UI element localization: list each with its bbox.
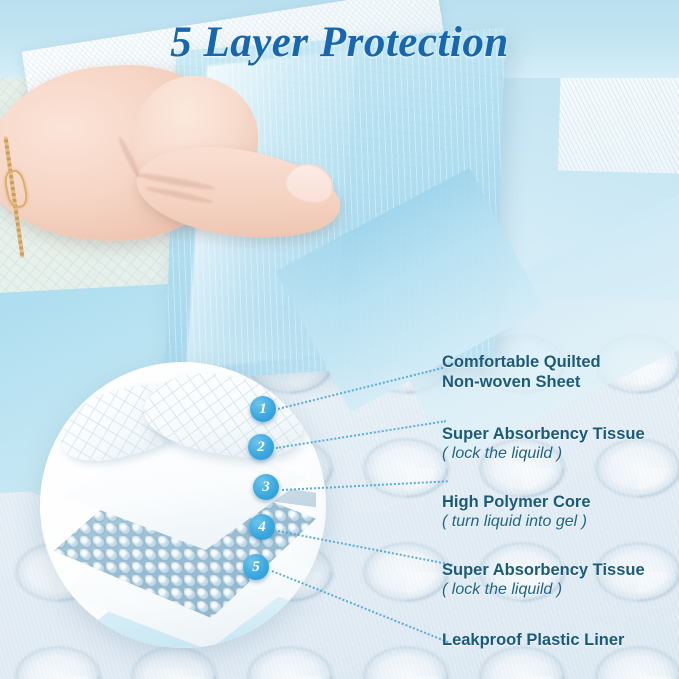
layer-label-3-line1: High Polymer Core [442, 492, 591, 512]
layer-label-1-line1: Comfortable Quilted [442, 352, 601, 372]
layer-label-4: Super Absorbency Tissue ( lock the liqui… [442, 560, 645, 600]
infographic-canvas: 1 2 3 4 5 5 Layer Protection Comfortable… [0, 0, 679, 679]
layer-badge-1[interactable]: 1 [250, 396, 276, 422]
layer-label-1-line2: Non-woven Sheet [442, 372, 601, 392]
layer-badge-2[interactable]: 2 [248, 434, 274, 460]
layer-badge-4[interactable]: 4 [249, 514, 275, 540]
bracelet-icon [8, 136, 21, 258]
layer-label-4-note: ( lock the liquild ) [442, 580, 645, 600]
layer-badge-3[interactable]: 3 [253, 474, 279, 500]
layer-label-5-line1: Leakproof Plastic Liner [442, 630, 624, 650]
magnifier-circle [40, 362, 326, 648]
hand-holding-pad [0, 58, 316, 288]
layer-label-4-line1: Super Absorbency Tissue [442, 560, 645, 580]
layer-label-1: Comfortable Quilted Non-woven Sheet [442, 352, 601, 392]
layer-label-2-note: ( lock the liquild ) [442, 444, 645, 464]
page-title: 5 Layer Protection [0, 18, 679, 67]
layer-badge-5[interactable]: 5 [243, 554, 269, 580]
layer-label-5: Leakproof Plastic Liner [442, 630, 624, 650]
layer-label-2-line1: Super Absorbency Tissue [442, 424, 645, 444]
layer-label-2: Super Absorbency Tissue ( lock the liqui… [442, 424, 645, 464]
layer-label-3-note: ( turn liquid into gel ) [442, 512, 591, 532]
layer-label-3: High Polymer Core ( turn liquid into gel… [442, 492, 591, 532]
